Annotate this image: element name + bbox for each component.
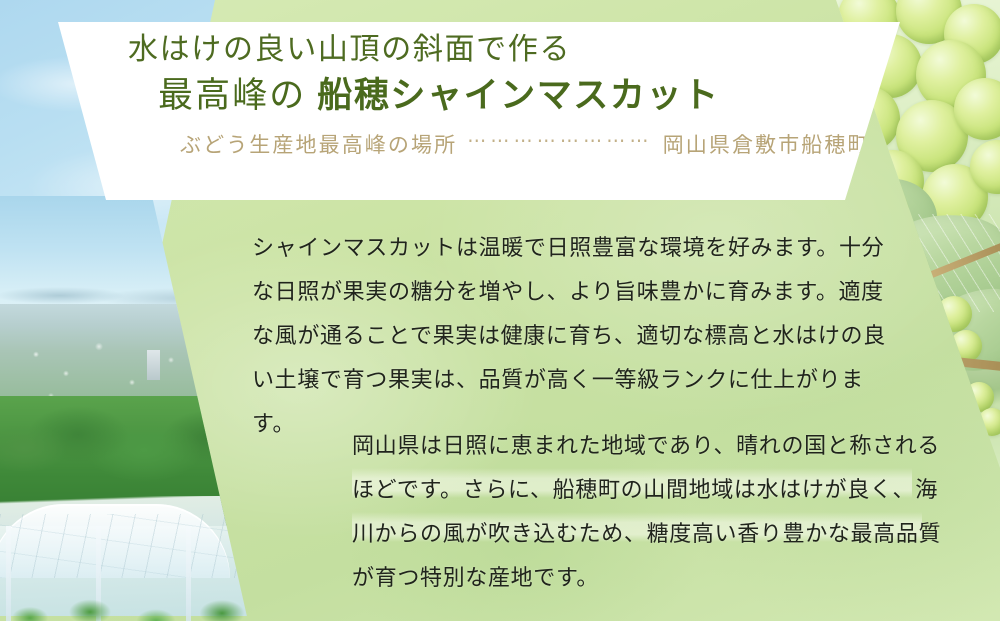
poster-root: 水はけの良い山頂の斜面で作る 最高峰の 船穂シャインマスカット ぶどう生産地最高… — [0, 0, 1000, 621]
body-paragraph-2: 岡山県は日照に恵まれた地域であり、晴れの国と称されるほどです。さらに、船穂町の山… — [352, 424, 952, 600]
paragraph-1-text: シャインマスカットは温暖で日照豊富な環境を好みます。十分な日照が果実の糖分を増や… — [252, 226, 892, 446]
dotted-leader: ⋯⋯⋯⋯⋯⋯⋯⋯ — [467, 130, 652, 153]
grape-berry — [936, 296, 972, 332]
title-panel: 水はけの良い山頂の斜面で作る 最高峰の 船穂シャインマスカット ぶどう生産地最高… — [0, 22, 900, 200]
page-title-main: 船穂シャインマスカット — [317, 76, 719, 115]
subtitle-left-text: ぶどう生産地最高峰の場所 — [180, 129, 457, 159]
subtitle-row: ぶどう生産地最高峰の場所 ⋯⋯⋯⋯⋯⋯⋯⋯ 岡山県倉敷市船穂町 — [180, 129, 868, 159]
grape-berry — [978, 408, 1000, 436]
paragraph-2-text: 岡山県は日照に恵まれた地域であり、晴れの国と称されるほどです。さらに、船穂町の山… — [352, 424, 952, 600]
landscape-building — [147, 350, 160, 380]
title-panel-content: 水はけの良い山頂の斜面で作る 最高峰の 船穂シャインマスカット ぶどう生産地最高… — [128, 30, 868, 159]
page-title-lead: 最高峰の — [158, 76, 317, 115]
body-paragraph-1: シャインマスカットは温暖で日照豊富な環境を好みます。十分な日照が果実の糖分を増や… — [252, 226, 892, 446]
page-title-line-1: 水はけの良い山頂の斜面で作る — [128, 30, 868, 71]
page-title-line-2: 最高峰の 船穂シャインマスカット — [158, 73, 868, 119]
subtitle-location: 岡山県倉敷市船穂町 — [663, 129, 871, 159]
